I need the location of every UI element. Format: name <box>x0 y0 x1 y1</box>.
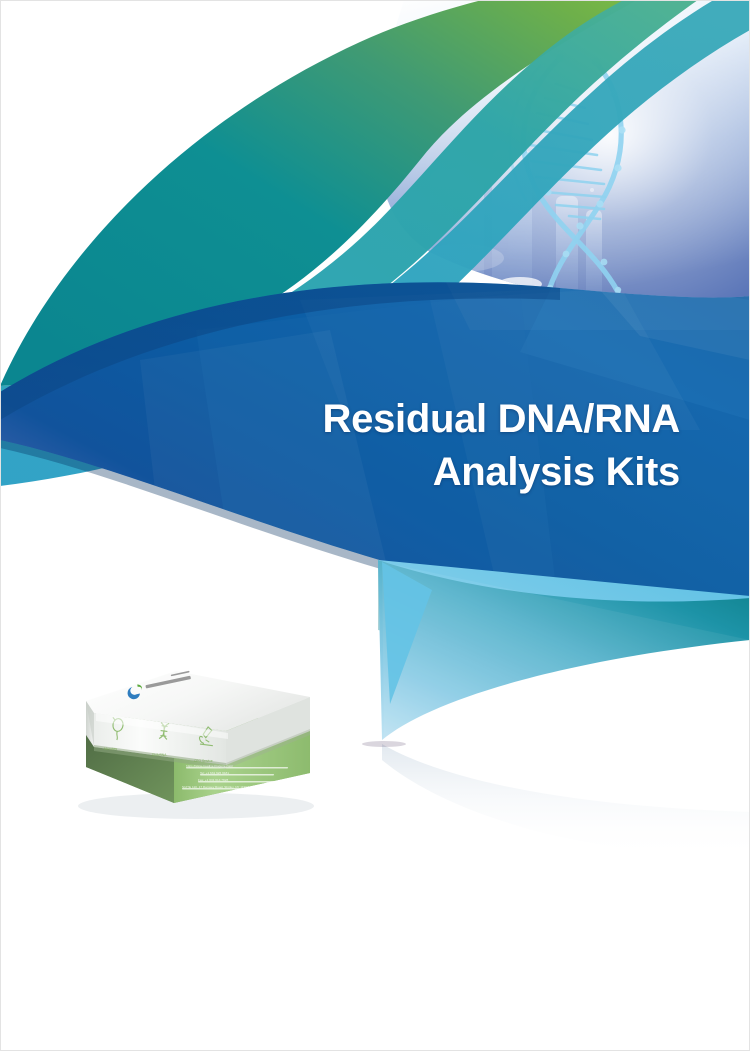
box-contact-tel: Tel: +1 631 626 9181 <box>200 771 229 775</box>
box-contact-address: SUITE 110, 17 Ramsey Road, Shirley, NY 1… <box>182 785 257 789</box>
box-contact-fax: Fax: +1 631 614 7828 <box>198 778 228 782</box>
title-line-1: Residual DNA/RNA <box>323 397 680 441</box>
box-icon-label-microbes: Microbes <box>104 747 117 751</box>
box-icon-label-dna-rna: DNA/RNA <box>152 753 166 757</box>
cover-footer: BIOTECHNOLOGY Creative Biogene www.creat… <box>0 869 750 949</box>
box-contact-url: https://www.creative-biogene.com/ <box>186 764 233 768</box>
cover-title: Residual DNA/RNA Analysis Kits <box>120 393 680 499</box>
product-box-image: Microbes DNA/RNA CRO Service https://www… <box>78 655 318 830</box>
title-line-2: Analysis Kits <box>120 446 680 499</box>
box-icon-label-cro-service: CRO Service <box>194 759 213 763</box>
lower-ribbon <box>362 560 750 860</box>
brochure-cover-page: Residual DNA/RNA Analysis Kits <box>0 0 750 1051</box>
